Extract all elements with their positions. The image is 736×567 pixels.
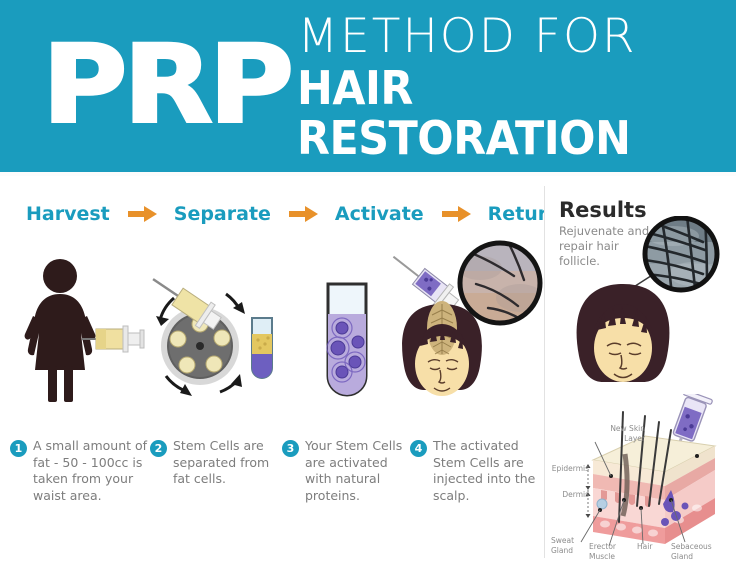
step-badge-1: 1 <box>10 440 27 457</box>
process-panel: Harvest Separate Activate Return <box>0 176 545 567</box>
skin-label-dermis: Dermis <box>551 490 589 500</box>
header-banner: PRP METHOD FOR HAIR RESTORATION <box>0 0 736 172</box>
header-title-line-1: METHOD FOR <box>297 13 702 61</box>
infographic-page: PRP METHOD FOR HAIR RESTORATION Harvest … <box>0 0 736 567</box>
prp-logo: PRP <box>42 32 290 140</box>
caption-text-1: A small amount of fat - 50 - 100cc is ta… <box>33 438 150 504</box>
caption-text-2: Stem Cells are separated from fat cells. <box>173 438 282 488</box>
step-badge-3: 3 <box>282 440 299 457</box>
step-badge-2: 2 <box>150 440 167 457</box>
skin-label-hair: Hair <box>637 542 663 552</box>
header-title-block: METHOD FOR HAIR RESTORATION <box>297 9 702 163</box>
step-badge-4: 4 <box>410 440 427 457</box>
right-arrow-icon <box>126 204 160 224</box>
process-step-labels: Harvest Separate Activate Return <box>26 198 526 230</box>
header-content: PRP METHOD FOR HAIR RESTORATION <box>42 16 702 156</box>
caption-step-2: 2 Stem Cells are separated from fat cell… <box>150 438 282 548</box>
caption-step-3: 3 Your Stem Cells are activated with nat… <box>282 438 410 548</box>
caption-text-4: The activated Stem Cells are injected in… <box>433 438 538 504</box>
caption-step-1: 1 A small amount of fat - 50 - 100cc is … <box>10 438 150 548</box>
step-label-separate: Separate <box>174 203 271 225</box>
step-label-activate: Activate <box>335 203 424 225</box>
header-title-line-2: HAIR RESTORATION <box>297 63 673 163</box>
caption-text-3: Your Stem Cells are activated with natur… <box>305 438 410 504</box>
skin-label-erector-muscle: Erector Muscle <box>589 542 625 561</box>
skin-label-sebaceous-gland: Sebaceous Gland <box>671 542 719 561</box>
step-captions: 1 A small amount of fat - 50 - 100cc is … <box>10 438 540 548</box>
caption-step-4: 4 The activated Stem Cells are injected … <box>410 438 538 548</box>
skin-cross-section-icon: New Skin Layer Epidermis Dermis Sweat Gl… <box>545 394 736 567</box>
head-with-thinning-hair-and-syringe-icon <box>380 238 545 418</box>
skin-label-epidermis: Epidermis <box>549 464 589 474</box>
head-with-restored-hair-icon <box>553 216 733 396</box>
right-arrow-icon <box>440 204 474 224</box>
results-panel: Results Rejuvenate and repair hair folli… <box>545 176 736 567</box>
centrifuge-with-syringe-and-test-tube-icon <box>148 276 283 404</box>
skin-label-sweat-gland: Sweat Gland <box>551 536 585 555</box>
right-arrow-icon <box>287 204 321 224</box>
step-label-harvest: Harvest <box>26 203 110 225</box>
skin-label-new-skin-layer: New Skin Layer <box>601 424 645 443</box>
woman-silhouette-with-syringe-icon <box>18 254 148 404</box>
